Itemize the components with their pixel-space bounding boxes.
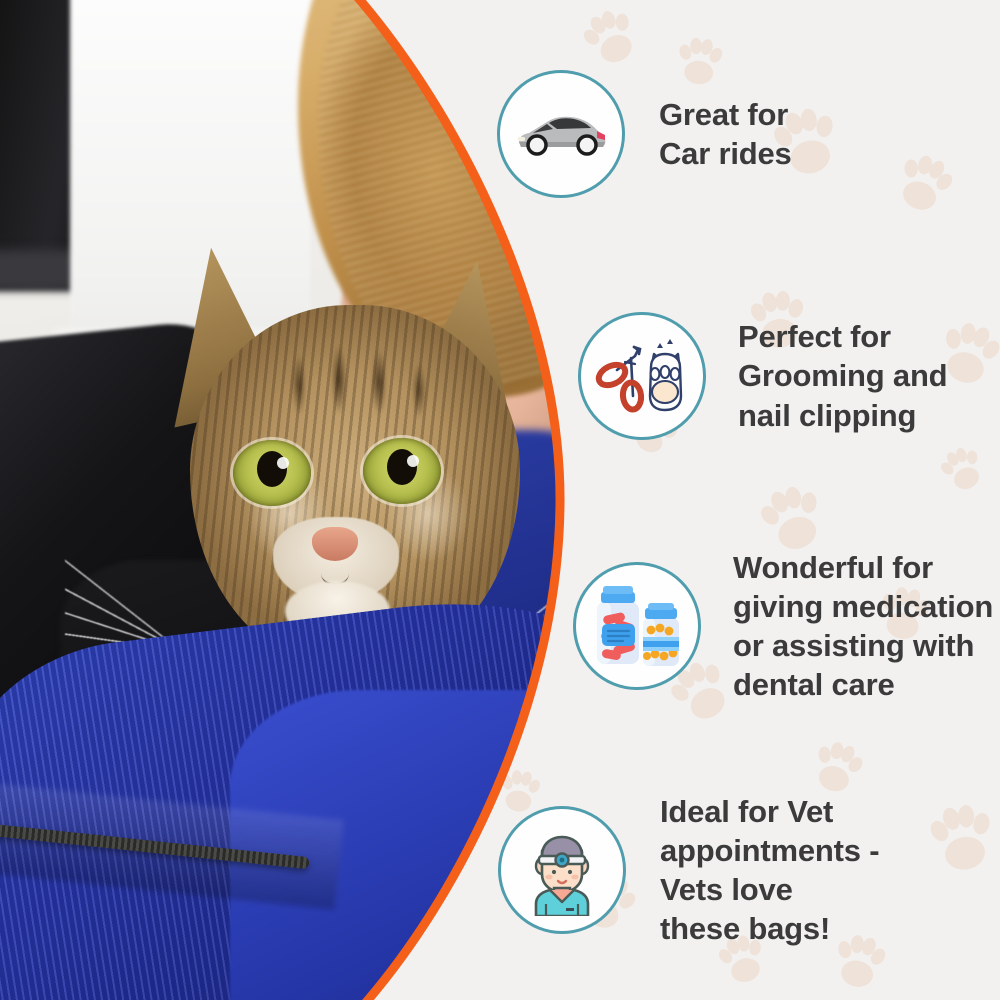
feature-label: Perfect for Grooming and nail clipping [738, 317, 947, 434]
car-icon [513, 104, 609, 164]
feature-icon-circle [497, 70, 625, 198]
feature-car-rides: Great for Car rides [497, 70, 792, 198]
feature-icon-circle [578, 312, 706, 440]
feature-label: Ideal for Vet appointments - Vets love t… [660, 792, 879, 948]
nail-clipper-paw-icon [595, 334, 689, 418]
feature-label: Great for Car rides [659, 95, 792, 173]
feature-grooming: Perfect for Grooming and nail clipping [578, 312, 947, 440]
product-feature-graphic: Great for Car rides [0, 0, 1000, 1000]
cat-eye-right [363, 438, 441, 504]
feature-label: Wonderful for giving medication or assis… [733, 548, 993, 704]
cat-eye-glint-right [407, 455, 419, 467]
cat-forehead-stripes [255, 315, 455, 455]
cat-eye-glint-left [277, 457, 289, 469]
feature-icon-circle [573, 562, 701, 690]
feature-medication: Wonderful for giving medication or assis… [573, 548, 993, 704]
pill-bottles-icon [589, 582, 685, 670]
cat-eye-left [233, 440, 311, 506]
feature-vet-appointments: Ideal for Vet appointments - Vets love t… [498, 792, 879, 948]
feature-icon-circle [498, 806, 626, 934]
veterinarian-icon [516, 824, 608, 916]
